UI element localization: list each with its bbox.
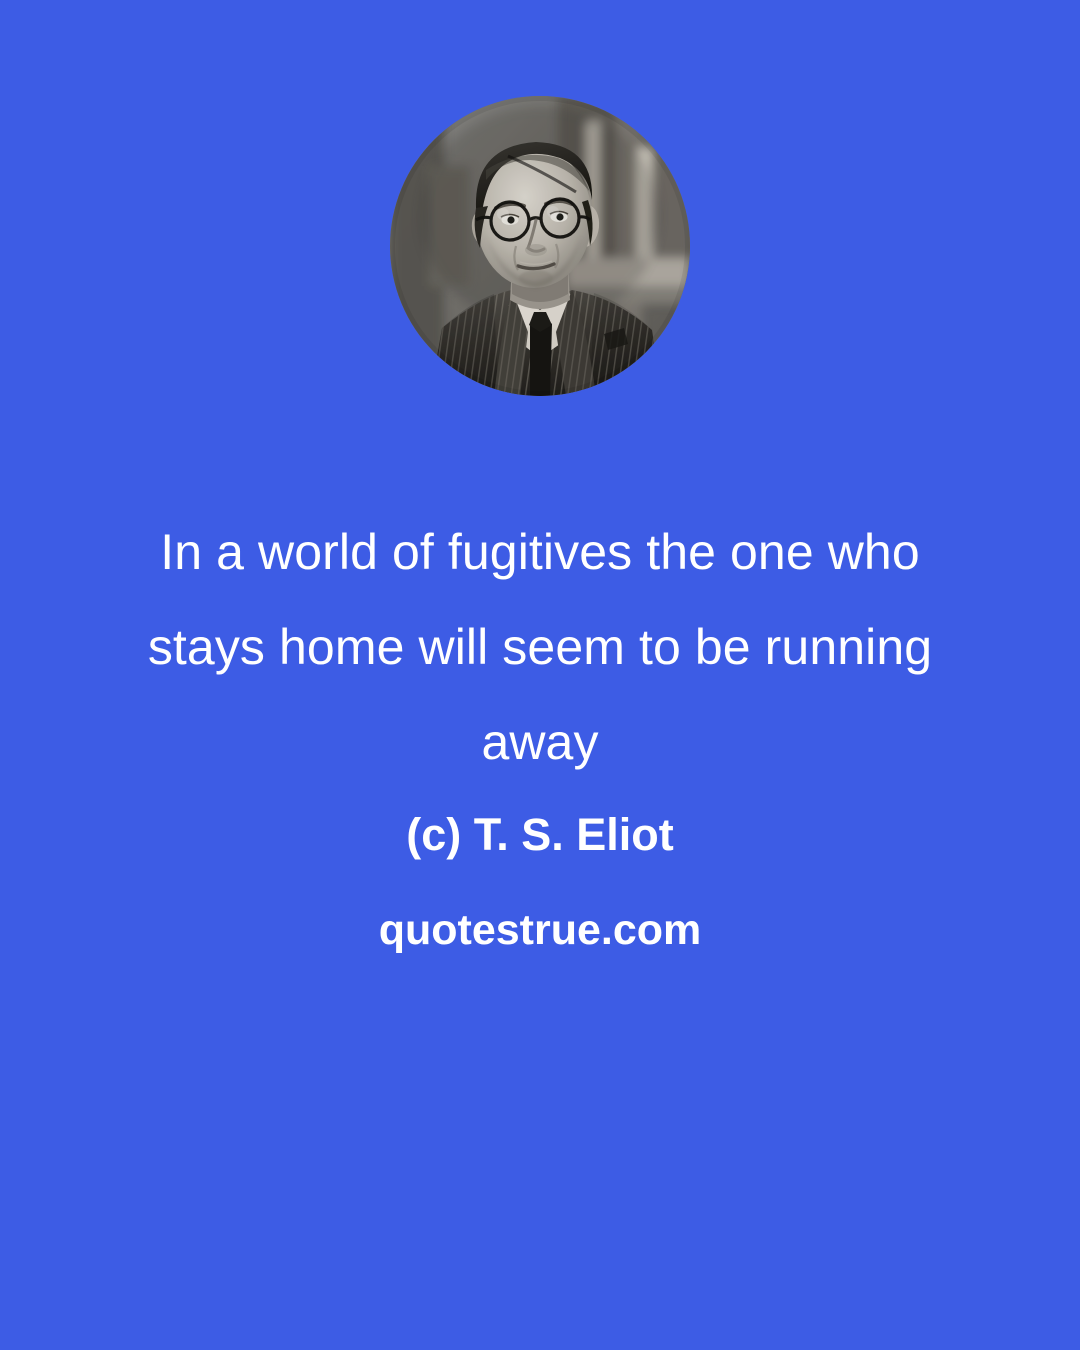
quote-line-1: In a world of fugitives the one who	[0, 505, 1080, 600]
author-attribution: (c) T. S. Eliot	[0, 805, 1080, 865]
author-portrait-photo	[390, 96, 690, 396]
quote-text: In a world of fugitives the one who stay…	[0, 505, 1080, 790]
quote-card: In a world of fugitives the one who stay…	[0, 0, 1080, 1350]
quote-line-2: stays home will seem to be running	[0, 600, 1080, 695]
portrait-illustration	[390, 96, 690, 396]
website-watermark: quotestrue.com	[0, 900, 1080, 960]
quote-line-3: away	[0, 695, 1080, 790]
